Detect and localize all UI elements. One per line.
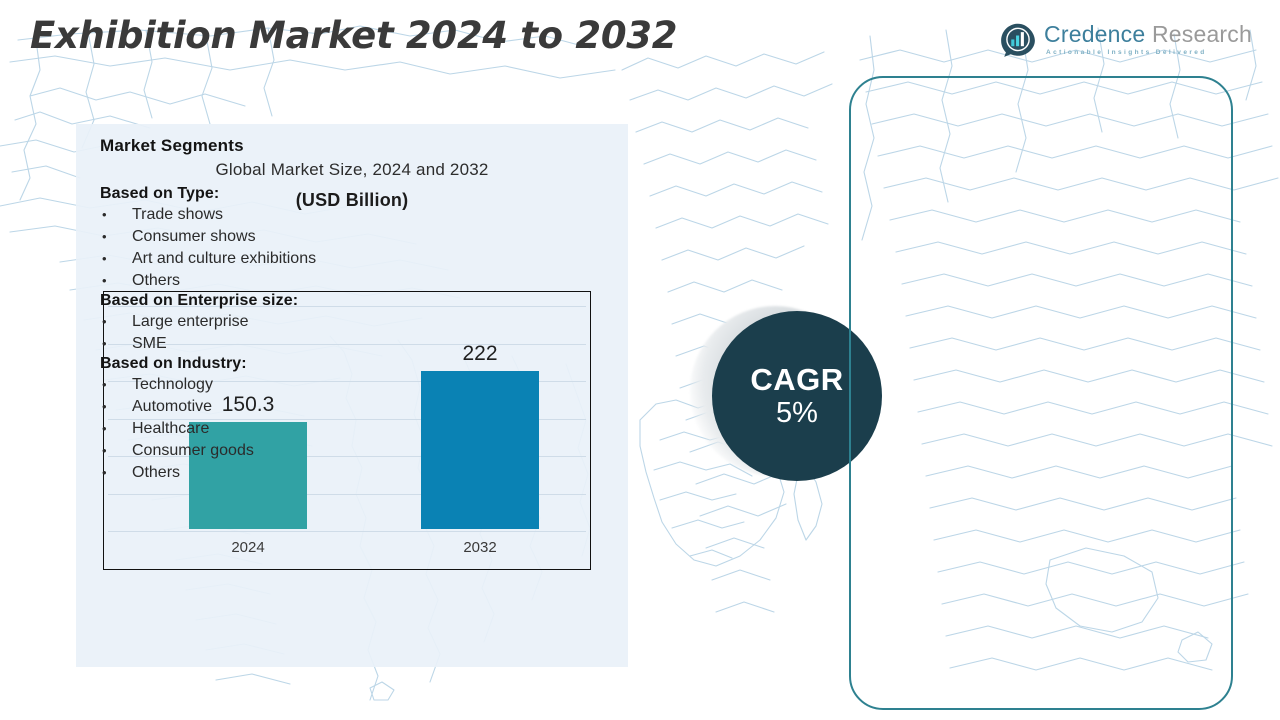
segment-item-label: Art and culture exhibitions bbox=[132, 248, 390, 270]
logo-text-block: Credence Research Actionable Insights De… bbox=[1044, 23, 1252, 57]
segment-list-item[interactable]: •Technology bbox=[100, 374, 390, 396]
bar-group[interactable]: 2222032 bbox=[421, 371, 539, 529]
segment-list-item[interactable]: •Consumer goods bbox=[100, 440, 390, 462]
bullet-icon: • bbox=[100, 440, 132, 462]
market-segments-panel bbox=[849, 76, 1233, 710]
bar-category-label: 2032 bbox=[401, 539, 559, 556]
segment-item-label: Technology bbox=[132, 374, 390, 396]
segment-item-label: Healthcare bbox=[132, 418, 390, 440]
segment-list-item[interactable]: •Others bbox=[100, 270, 390, 292]
bullet-icon: • bbox=[100, 333, 132, 355]
segment-item-label: Large enterprise bbox=[132, 311, 390, 333]
speech-bubble-bar-chart-icon bbox=[1000, 22, 1036, 58]
segment-list-item[interactable]: •Automotive bbox=[100, 396, 390, 418]
logo-brand-secondary: Research bbox=[1145, 21, 1252, 47]
segment-group-title: Based on Industry: bbox=[100, 355, 390, 373]
logo-wordmark: Credence Research bbox=[1044, 23, 1252, 46]
market-segments-groups: Based on Type:•Trade shows•Consumer show… bbox=[100, 185, 390, 484]
infographic-canvas: Exhibition Market 2024 to 2032 Credence … bbox=[0, 0, 1280, 720]
segment-list-item[interactable]: •Trade shows bbox=[100, 204, 390, 226]
bullet-icon: • bbox=[100, 248, 132, 270]
segment-list-item[interactable]: •Large enterprise bbox=[100, 311, 390, 333]
bullet-icon: • bbox=[100, 226, 132, 248]
market-segments-heading: Market Segments bbox=[100, 136, 390, 156]
bullet-icon: • bbox=[100, 311, 132, 333]
segment-item-label: Others bbox=[132, 462, 390, 484]
cagr-label: CAGR bbox=[750, 364, 843, 397]
bullet-icon: • bbox=[100, 396, 132, 418]
bar-value-label: 222 bbox=[421, 342, 539, 366]
logo-brand-primary: Credence bbox=[1044, 21, 1145, 47]
bullet-icon: • bbox=[100, 204, 132, 226]
segment-item-label: Others bbox=[132, 270, 390, 292]
brand-logo[interactable]: Credence Research Actionable Insights De… bbox=[1000, 22, 1252, 58]
bar-rect[interactable] bbox=[421, 371, 539, 529]
cagr-value: 5% bbox=[776, 398, 818, 428]
segment-item-label: Trade shows bbox=[132, 204, 390, 226]
bullet-icon: • bbox=[100, 462, 132, 484]
segment-list-item[interactable]: •Art and culture exhibitions bbox=[100, 248, 390, 270]
segment-group-title: Based on Enterprise size: bbox=[100, 292, 390, 310]
logo-tagline: Actionable Insights Delivered bbox=[1044, 50, 1252, 57]
segment-item-label: Consumer shows bbox=[132, 226, 390, 248]
market-segments-content: Market Segments Based on Type:•Trade sho… bbox=[100, 136, 390, 484]
segment-item-label: Automotive bbox=[132, 396, 390, 418]
segment-item-label: Consumer goods bbox=[132, 440, 390, 462]
segment-list-item[interactable]: •SME bbox=[100, 333, 390, 355]
page-title: Exhibition Market 2024 to 2032 bbox=[30, 14, 677, 57]
segment-list-item[interactable]: •Healthcare bbox=[100, 418, 390, 440]
segment-group-title: Based on Type: bbox=[100, 185, 390, 203]
segment-list-item[interactable]: •Others bbox=[100, 462, 390, 484]
bullet-icon: • bbox=[100, 270, 132, 292]
bullet-icon: • bbox=[100, 418, 132, 440]
segment-item-label: SME bbox=[132, 333, 390, 355]
bullet-icon: • bbox=[100, 374, 132, 396]
bar-category-label: 2024 bbox=[169, 539, 327, 556]
segment-list-item[interactable]: •Consumer shows bbox=[100, 226, 390, 248]
